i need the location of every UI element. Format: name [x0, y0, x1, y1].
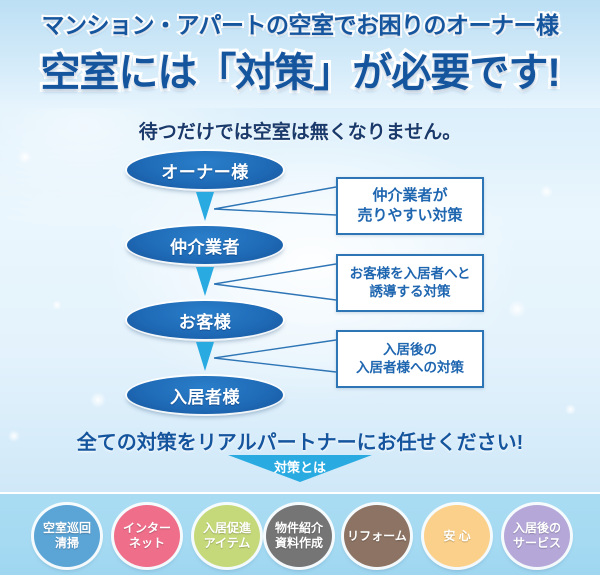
- service-circle-property-materials[interactable]: 物件紹介 資料作成: [266, 505, 332, 567]
- service-label-line: 入居後の: [513, 521, 561, 535]
- service-circle-after-move-in[interactable]: 入居後の サービス: [504, 505, 570, 567]
- service-label-line: 物件紹介: [275, 521, 323, 535]
- service-label-line: リフォーム: [347, 529, 407, 543]
- sparkle-icon: [540, 185, 553, 198]
- service-circle-cleaning[interactable]: 空室巡回 清掃: [34, 505, 100, 567]
- sparkle-icon: [508, 300, 526, 318]
- callout-line: 仲介業者が: [372, 186, 447, 206]
- flow-node-label: 仲介業者: [170, 233, 240, 258]
- flow-node-label: 入居者様: [170, 383, 240, 408]
- service-circle-internet[interactable]: インター ネット: [114, 505, 180, 567]
- sparkle-icon: [565, 404, 576, 415]
- poster-root: マンション・アパートの空室でお困りのオーナー様 空室には「対策」が必要です! 待…: [0, 0, 600, 575]
- callout-box-tenant-strategy: 入居後の 入居者様への対策: [336, 330, 484, 388]
- callout-line: 売りやすい対策: [357, 206, 462, 226]
- flow-arrow-down-icon: [193, 192, 217, 222]
- callout-leader-line: [214, 185, 340, 231]
- callout-line: お客様を入居者へと: [350, 265, 471, 283]
- lead-subtitle: 待つだけでは空室は無くなりません。: [0, 117, 600, 144]
- service-label-line: 入居促進: [203, 521, 251, 535]
- flow-node-owner: オーナー様: [127, 151, 283, 189]
- callout-box-customer-strategy: お客様を入居者へと 誘導する対策: [336, 254, 484, 312]
- service-circle-promotion-items[interactable]: 入居促進 アイテム: [194, 505, 260, 567]
- flow-arrow-down-icon: [193, 342, 217, 372]
- service-circle-peace-of-mind[interactable]: 安 心: [424, 505, 490, 567]
- chevron-banner-label: 対策とは: [228, 457, 372, 476]
- flow-node-label: オーナー様: [161, 158, 249, 183]
- sparkle-icon: [90, 392, 106, 408]
- sparkle-icon: [18, 150, 32, 164]
- service-label-line: 清掃: [55, 536, 79, 550]
- header-subtitle-line: マンション・アパートの空室でお困りのオーナー様: [0, 6, 600, 40]
- flow-node-tenant: 入居者様: [127, 376, 283, 414]
- service-label-line: ネット: [129, 536, 165, 550]
- service-label-line: 空室巡回: [43, 521, 91, 535]
- callout-line: 入居者様への対策: [356, 359, 464, 377]
- page-title: 空室には「対策」が必要です!: [0, 40, 600, 98]
- service-label-line: アイテム: [204, 536, 251, 550]
- callout-line: 誘導する対策: [370, 283, 451, 301]
- flow-node-customer: お客様: [127, 301, 283, 339]
- sparkle-icon: [52, 300, 62, 310]
- service-label-line: 資料作成: [275, 536, 323, 550]
- flow-node-agent: 仲介業者: [127, 226, 283, 264]
- callout-line: 入居後の: [383, 341, 437, 359]
- service-label-line: 安 心: [443, 529, 470, 543]
- service-label-line: サービス: [513, 536, 561, 550]
- cta-text: 全ての対策をリアルパートナーにお任せください!: [0, 426, 600, 455]
- service-label-line: インター: [123, 521, 171, 535]
- service-circle-reform[interactable]: リフォーム: [344, 505, 410, 567]
- callout-box-agent-strategy: 仲介業者が 売りやすい対策: [336, 177, 484, 235]
- flow-node-label: お客様: [179, 308, 232, 333]
- flow-arrow-down-icon: [193, 267, 217, 297]
